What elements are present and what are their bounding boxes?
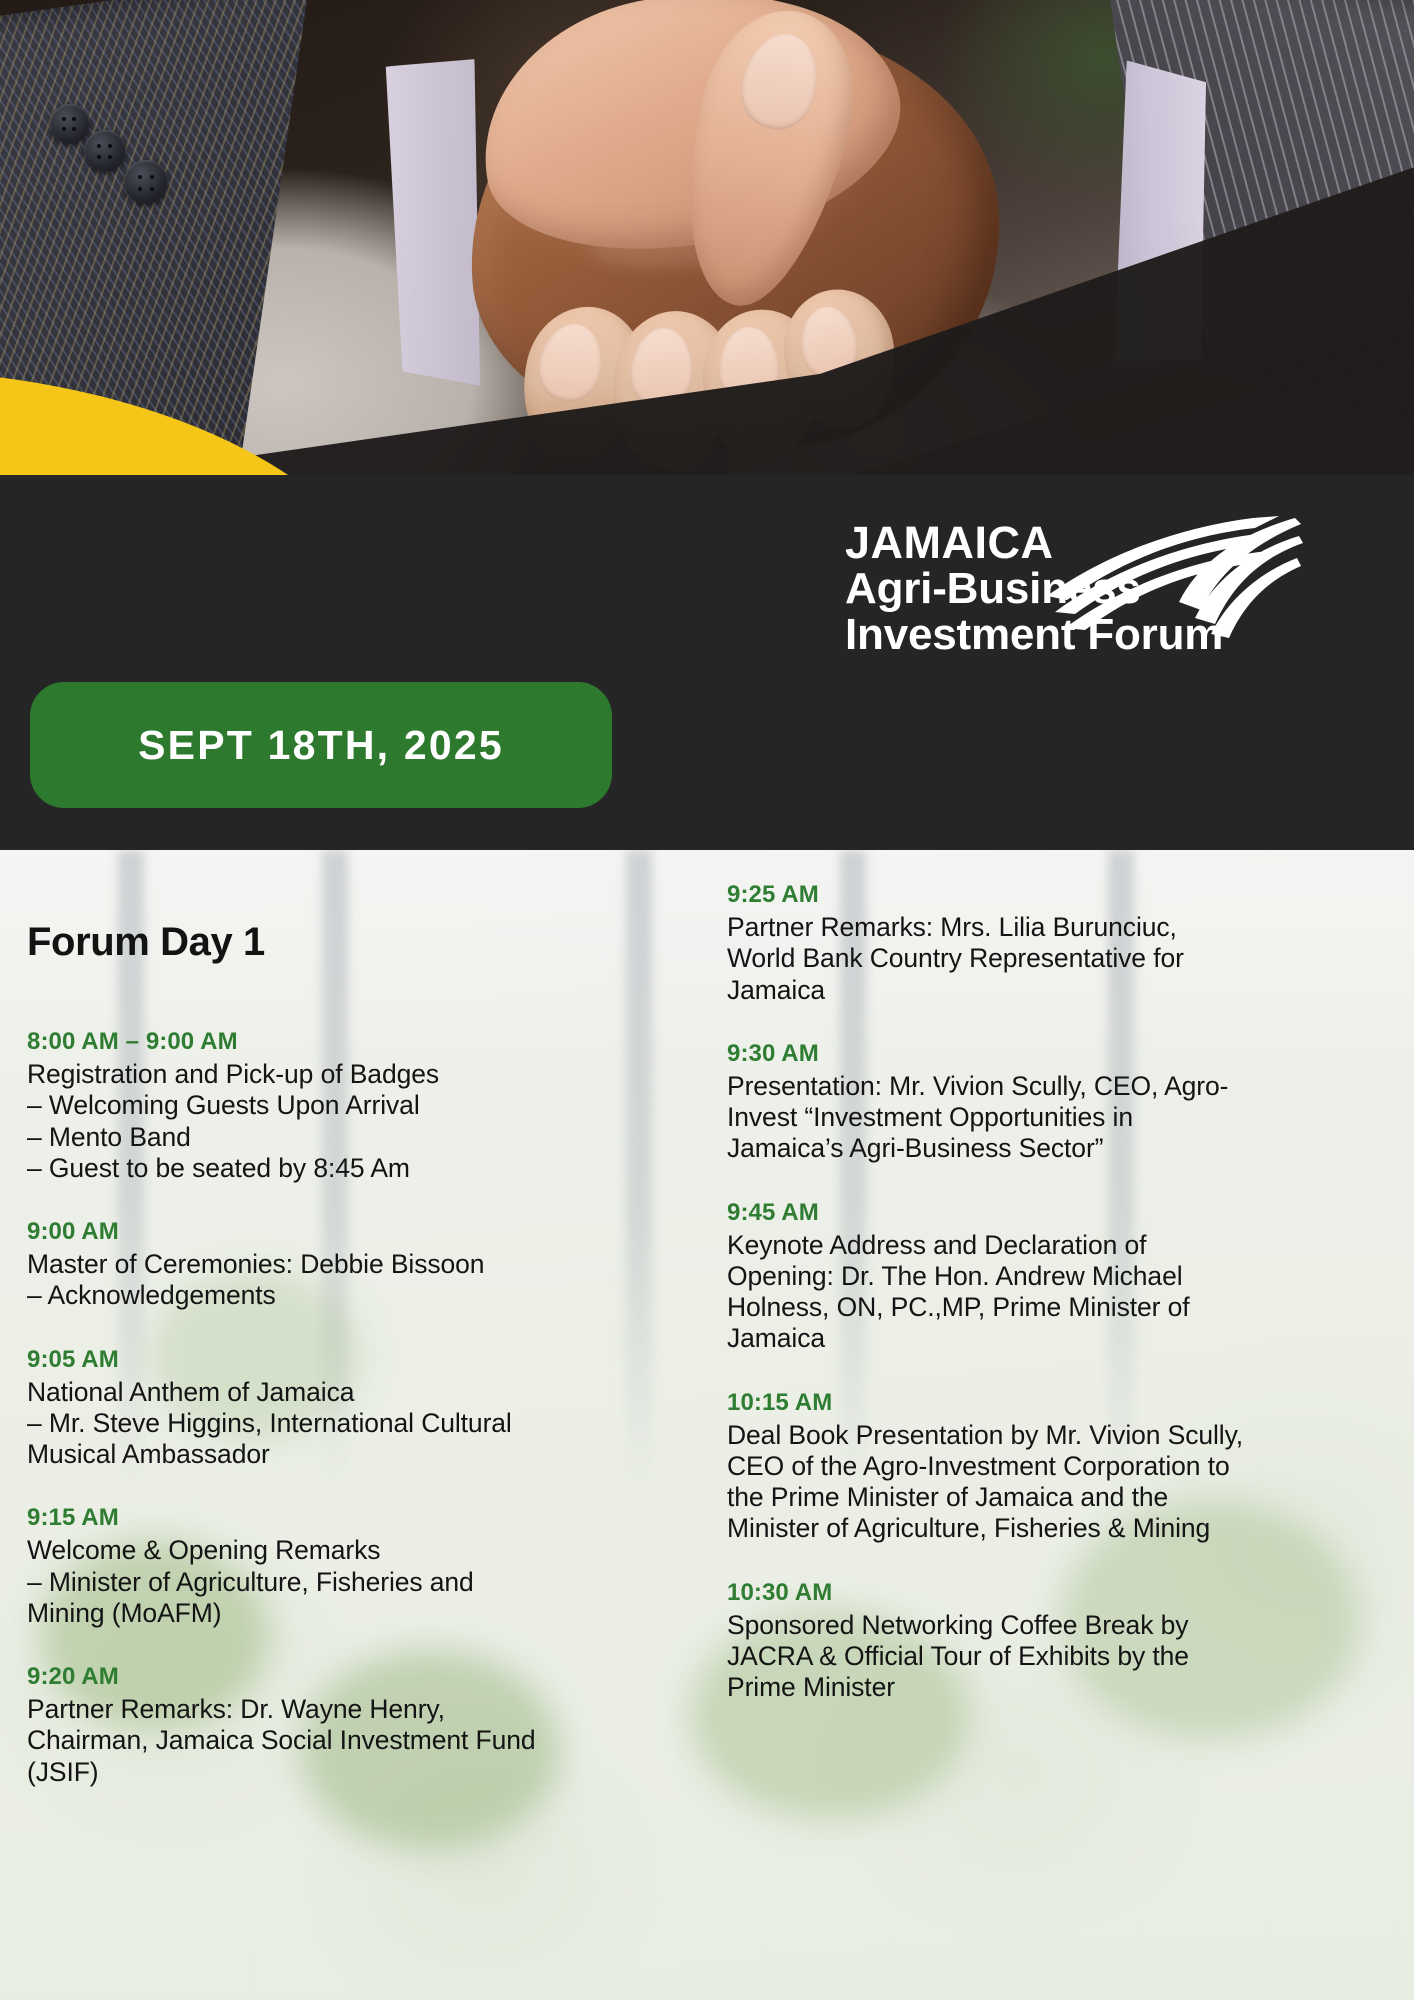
agenda-item-time: 9:45 AM <box>727 1199 1247 1227</box>
event-date-badge: SEPT 18TH, 2025 <box>30 682 612 808</box>
agenda-item-time: 10:30 AM <box>727 1579 1247 1607</box>
agenda-section: Forum Day 1 8:00 AM – 9:00 AM Registrati… <box>0 850 1414 2000</box>
agenda-item: 9:30 AM Presentation: Mr. Vivion Scully,… <box>727 1040 1247 1165</box>
agenda-item-description: Sponsored Networking Coffee Break by JAC… <box>727 1610 1247 1704</box>
agenda-item: 9:20 AM Partner Remarks: Dr. Wayne Henry… <box>27 1663 547 1788</box>
agenda-item-description: Master of Ceremonies: Debbie Bissoon – A… <box>27 1249 547 1312</box>
handshake-illustration <box>0 0 1414 492</box>
agenda-right-column: 9:25 AM Partner Remarks: Mrs. Lilia Buru… <box>727 881 1247 1704</box>
agenda-item-description: Keynote Address and Declaration of Openi… <box>727 1230 1247 1355</box>
agenda-item: 9:00 AM Master of Ceremonies: Debbie Bis… <box>27 1218 547 1312</box>
agenda-item-time: 9:20 AM <box>27 1663 547 1691</box>
agenda-item: 9:45 AM Keynote Address and Declaration … <box>727 1199 1247 1355</box>
event-agenda-poster: SEPT 18TH, 2025 JAMAICA Agri-Business In… <box>0 0 1414 2000</box>
agenda-item: 9:25 AM Partner Remarks: Mrs. Lilia Buru… <box>727 881 1247 1006</box>
agenda-item-description: National Anthem of Jamaica – Mr. Steve H… <box>27 1377 547 1471</box>
agenda-item-time: 10:15 AM <box>727 1389 1247 1417</box>
agenda-item-time: 8:00 AM – 9:00 AM <box>27 1028 547 1056</box>
greenhouse-post <box>626 850 652 1490</box>
wing-swoosh-icon <box>1043 510 1303 642</box>
event-date-label: SEPT 18TH, 2025 <box>138 722 504 769</box>
suit-button <box>124 160 168 204</box>
agenda-item-description: Registration and Pick-up of Badges – Wel… <box>27 1059 547 1184</box>
page-title: Forum Day 1 <box>27 920 547 965</box>
hero-photo-handshake <box>0 0 1414 492</box>
agenda-item-time: 9:05 AM <box>27 1346 547 1374</box>
agenda-item-time: 9:30 AM <box>727 1040 1247 1068</box>
agenda-item-description: Welcome & Opening Remarks – Minister of … <box>27 1535 547 1629</box>
suit-button <box>84 130 126 172</box>
agenda-item-description: Deal Book Presentation by Mr. Vivion Scu… <box>727 1420 1247 1545</box>
agenda-item-time: 9:00 AM <box>27 1218 547 1246</box>
agenda-item-description: Partner Remarks: Dr. Wayne Henry, Chairm… <box>27 1694 547 1788</box>
agenda-item: 10:15 AM Deal Book Presentation by Mr. V… <box>727 1389 1247 1545</box>
agenda-item: 8:00 AM – 9:00 AM Registration and Pick-… <box>27 1028 547 1184</box>
agenda-item: 9:05 AM National Anthem of Jamaica – Mr.… <box>27 1346 547 1471</box>
agenda-item-description: Partner Remarks: Mrs. Lilia Burunciuc, W… <box>727 912 1247 1006</box>
agenda-item-time: 9:15 AM <box>27 1504 547 1532</box>
forum-logo: JAMAICA Agri-Business Investment Forum <box>845 520 1385 680</box>
agenda-item: 10:30 AM Sponsored Networking Coffee Bre… <box>727 1579 1247 1704</box>
agenda-item: 9:15 AM Welcome & Opening Remarks – Mini… <box>27 1504 547 1629</box>
agenda-left-column: Forum Day 1 8:00 AM – 9:00 AM Registrati… <box>27 920 547 1788</box>
suit-button <box>50 104 90 144</box>
agenda-item-description: Presentation: Mr. Vivion Scully, CEO, Ag… <box>727 1071 1247 1165</box>
title-band: SEPT 18TH, 2025 JAMAICA Agri-Business In… <box>0 475 1414 850</box>
agenda-item-time: 9:25 AM <box>727 881 1247 909</box>
